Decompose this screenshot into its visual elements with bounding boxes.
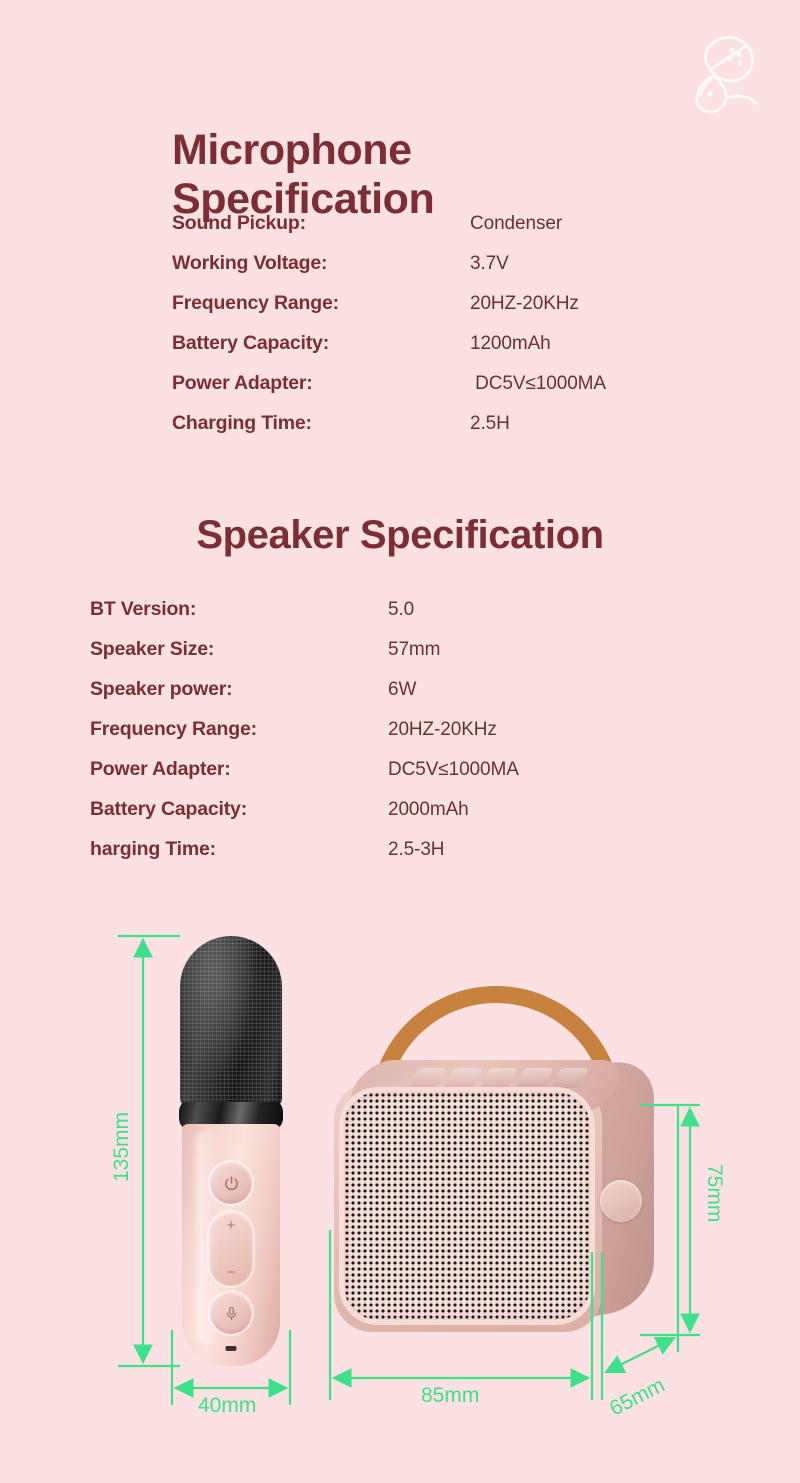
dimension-label-speaker-height: 75mm (702, 1164, 726, 1222)
dimension-label-speaker-width: 85mm (421, 1384, 479, 1408)
bluetooth-speaker-image (318, 986, 678, 1356)
volume-rocker-button: + − (209, 1212, 253, 1286)
spec-value: 3.7V (470, 253, 509, 275)
volume-down-icon: − (227, 1264, 236, 1281)
microphone-spec-table: Sound Pickup: Condenser Working Voltage:… (172, 212, 290, 642)
spec-row: Power Adapter: DC5V≤1000MA (90, 758, 710, 798)
spec-value: 57mm (388, 639, 440, 661)
microphone-body: + − (182, 1124, 280, 1366)
spec-label: Battery Capacity: (90, 798, 388, 821)
spec-value: DC5V≤1000MA (388, 759, 519, 781)
spec-value: 2.5-3H (388, 839, 444, 861)
spec-row: harging Time: 2.5-3H (90, 838, 710, 878)
speaker-top-buttons (409, 1068, 589, 1088)
microphone-grille (180, 936, 282, 1108)
spec-label: Frequency Range: (90, 718, 388, 741)
dimension-label-speaker-depth: 65mm (606, 1374, 669, 1422)
spec-label: Battery Capacity: (172, 332, 470, 355)
spec-row: Frequency Range: 20HZ-20KHz (172, 292, 290, 332)
spec-label: BT Version: (90, 598, 388, 621)
page-title-speaker: Speaker Specification (0, 513, 800, 558)
spec-label: harging Time: (90, 838, 388, 861)
spec-row: Frequency Range: 20HZ-20KHz (90, 718, 710, 758)
spec-label: Sound Pickup: (172, 212, 470, 235)
product-photo: + − (0, 900, 800, 1460)
spec-label: Speaker power: (90, 678, 388, 701)
spec-row: Speaker Size: 57mm (90, 638, 710, 678)
speaker-spec-table: BT Version: 5.0 Speaker Size: 57mm Speak… (90, 598, 710, 878)
spec-label: Power Adapter: (172, 372, 470, 395)
dimension-label-mic-width: 40mm (198, 1394, 256, 1418)
spec-row: BT Version: 5.0 (90, 598, 710, 638)
spec-value: 20HZ-20KHz (470, 293, 579, 315)
top-button (480, 1068, 518, 1088)
spec-value: 2.5H (470, 413, 510, 435)
top-button (515, 1068, 553, 1088)
status-led (226, 1346, 237, 1351)
spec-row: Speaker power: 6W (90, 678, 710, 718)
volume-up-icon: + (227, 1217, 236, 1234)
spec-row: Battery Capacity: 1200mAh (172, 332, 290, 372)
spec-row: Working Voltage: 3.7V (172, 252, 290, 292)
spec-value: Condenser (470, 213, 562, 235)
spec-label: Power Adapter: (90, 758, 388, 781)
spec-row: Power Adapter: DC5V≤1000MA (172, 372, 290, 412)
spec-value: 6W (388, 679, 416, 701)
spec-row: Battery Capacity: 2000mAh (90, 798, 710, 838)
top-button (445, 1068, 483, 1088)
speaker-grille (344, 1092, 590, 1320)
spec-value: 20HZ-20KHz (388, 719, 497, 741)
spec-label: Speaker Size: (90, 638, 388, 661)
spec-value: 1200mAh (470, 333, 551, 355)
spec-label: Charging Time: (172, 412, 470, 435)
spec-value: DC5V≤1000MA (470, 373, 606, 395)
spec-label: Working Voltage: (172, 252, 470, 275)
power-button-icon (210, 1162, 252, 1204)
dimension-label-mic-height: 135mm (110, 1112, 134, 1182)
speaker-side-knob (600, 1180, 642, 1222)
microphone-outline-icon (672, 26, 782, 126)
spec-label: Frequency Range: (172, 292, 470, 315)
karaoke-microphone-image: + − (172, 936, 290, 1366)
spec-row: Charging Time: 2.5H (172, 412, 290, 452)
spec-page: Microphone Specification Sound Pickup: C… (0, 0, 800, 1483)
spec-row: Sound Pickup: Condenser (172, 212, 290, 252)
spec-value: 2000mAh (388, 799, 469, 821)
spec-value: 5.0 (388, 599, 414, 621)
mic-button-icon (210, 1292, 252, 1334)
